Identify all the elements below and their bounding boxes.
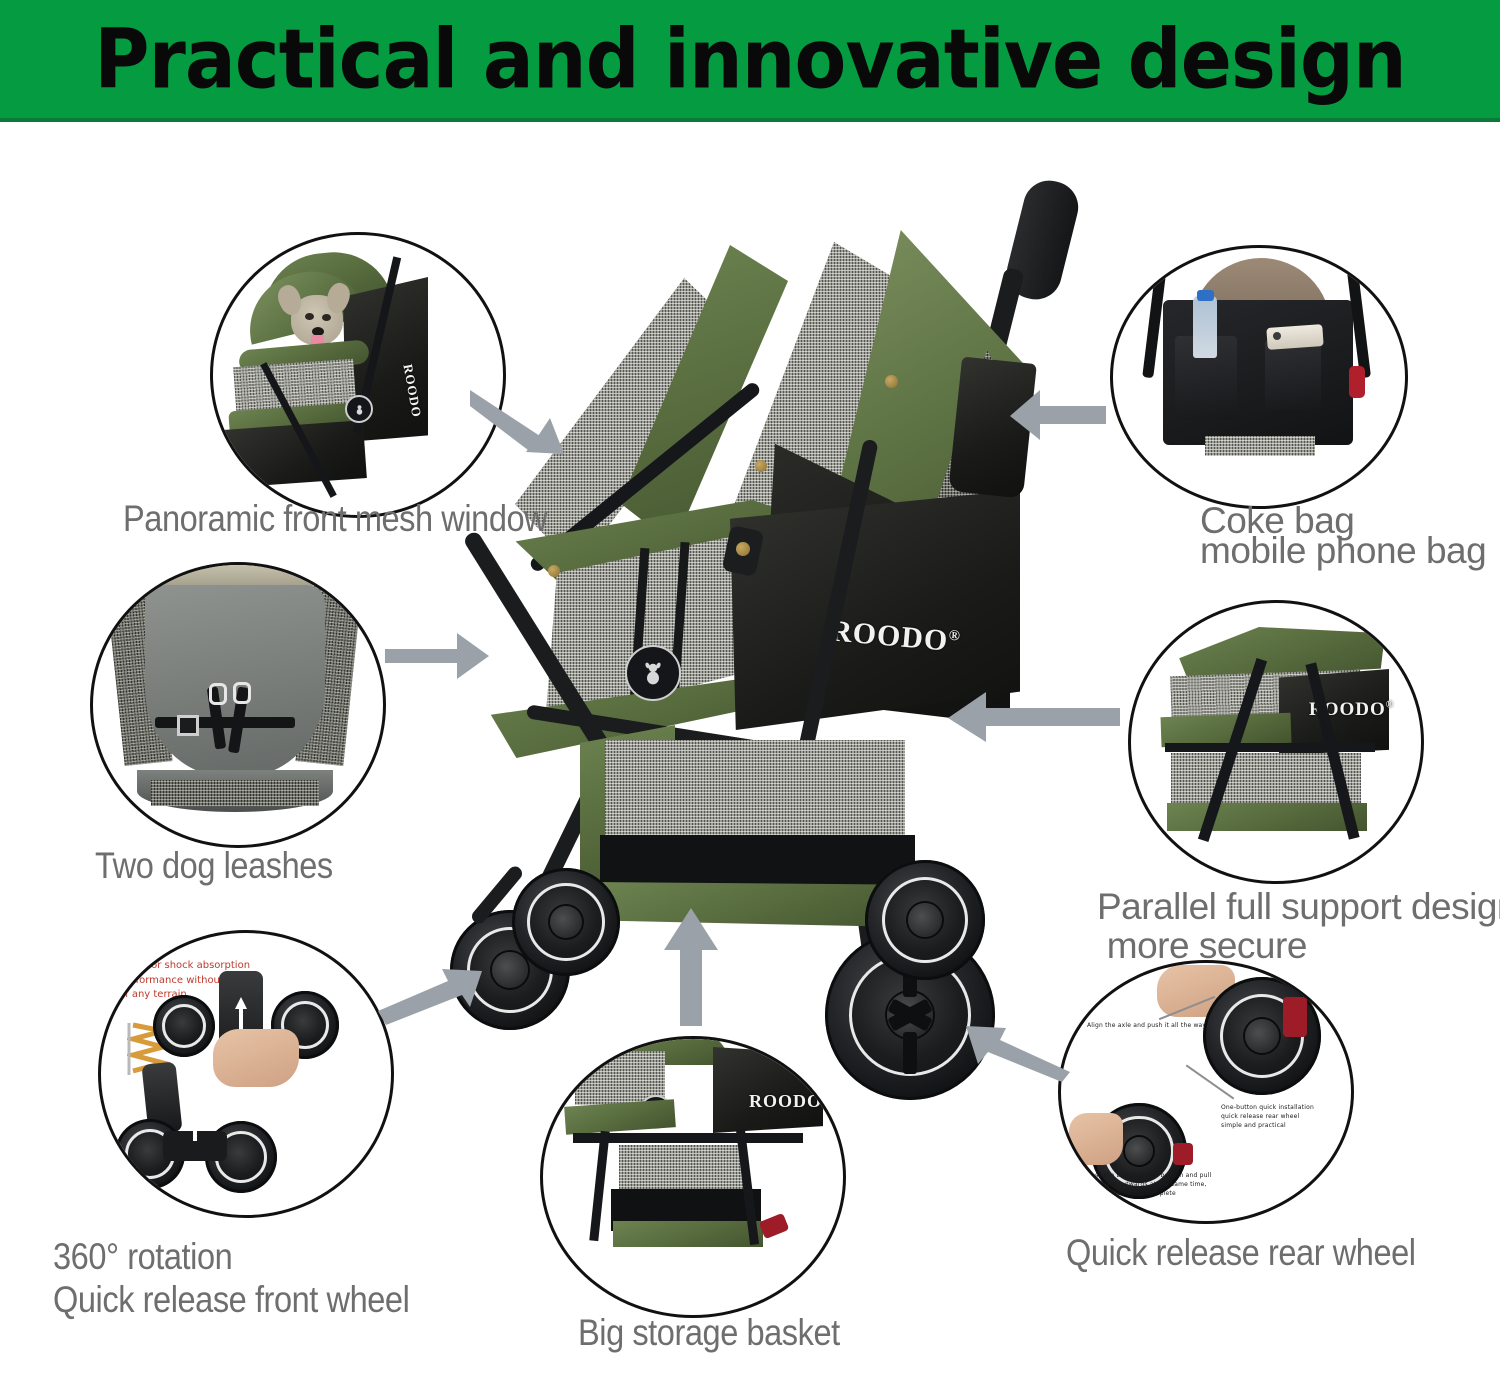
callout-quick-release-rear-wheel: Align the axle and push it all the way O… xyxy=(1058,960,1354,1224)
header-banner: Practical and innovative design xyxy=(0,0,1500,122)
basket-red-brake xyxy=(759,1213,790,1239)
mini-logo-badge xyxy=(345,395,373,423)
callout-panoramic-front-mesh-window: ROODO xyxy=(210,232,506,518)
basket-frame-left xyxy=(589,1131,609,1241)
callout-image-panoramic: ROODO xyxy=(213,235,503,515)
callout-image-coke-bag xyxy=(1113,248,1405,506)
label-parallel-full-support: Parallel full support design xyxy=(1097,886,1500,928)
leash-clip-2 xyxy=(233,682,251,704)
storage-basket-mesh xyxy=(605,740,905,850)
callout-image-parallel-support: ROODO® xyxy=(1131,603,1421,881)
rear-wheel-spoke-2 xyxy=(903,1032,917,1074)
harness-buckle xyxy=(177,715,199,736)
align-axle-text: Align the axle and push it all the way xyxy=(1087,1021,1206,1030)
storage-basket-black-band xyxy=(600,835,915,890)
harness-strap-horizontal xyxy=(155,717,295,728)
arrow-basket xyxy=(660,908,722,1026)
bag-pocket-right xyxy=(1265,340,1321,410)
logo-badge xyxy=(625,645,681,701)
basket-floor-green xyxy=(613,1221,763,1247)
label-quick-release-rear-wheel: Quick release rear wheel xyxy=(1066,1232,1416,1274)
up-arrow-2 xyxy=(189,1103,201,1141)
bottle-cap xyxy=(1197,290,1214,301)
hand-photo-top xyxy=(213,1029,299,1087)
front-wheel-hub xyxy=(492,952,528,988)
callout-two-dog-leashes xyxy=(90,562,386,848)
hinge-rivet xyxy=(736,542,750,556)
arrow-front-wheel xyxy=(378,965,486,1029)
arrow-panoramic xyxy=(468,388,578,460)
hand-photo-rear-bottom xyxy=(1069,1113,1123,1165)
interior-bottom-mesh xyxy=(151,780,319,806)
callout-image-rear-wheel: Align the axle and push it all the way O… xyxy=(1061,963,1351,1221)
canopy-rivet-1 xyxy=(885,375,898,388)
arrow-coke-bag xyxy=(1010,388,1106,444)
leash-clip-1 xyxy=(209,683,227,705)
water-bottle xyxy=(1193,296,1217,358)
front-wheel-inner-hub xyxy=(550,906,582,938)
label-panoramic-front-mesh-window: Panoramic front mesh window xyxy=(123,498,547,540)
callout-image-front-wheel: Superior shock absorption performance wi… xyxy=(101,933,391,1215)
dog-icon xyxy=(353,403,366,416)
canopy-rivet-2 xyxy=(755,460,767,472)
press-button-text: Press the button to the bottom and pull … xyxy=(1085,1171,1211,1198)
label-mobile-phone-bag: mobile phone bag xyxy=(1200,530,1486,572)
label-two-dog-leashes: Two dog leashes xyxy=(95,845,333,887)
label-quick-release-front-wheel: Quick release front wheel xyxy=(53,1279,409,1321)
main-product-image: ROODO® xyxy=(430,170,1080,1100)
callout-image-basket: ROODO® xyxy=(543,1039,843,1315)
cabin-rivet-1 xyxy=(548,565,560,577)
callout-image-leashes xyxy=(93,565,383,845)
callout-parallel-full-support: ROODO® xyxy=(1128,600,1424,884)
rear-detail-red-part-2 xyxy=(1173,1143,1193,1165)
rear-detail-red-part xyxy=(1283,997,1307,1037)
side-basket-bottom xyxy=(1167,803,1367,831)
rear-wheel-second-hub xyxy=(908,903,942,937)
one-button-text: One-button quick installation quick rele… xyxy=(1221,1103,1314,1130)
basket-cabin-black xyxy=(713,1047,823,1133)
rear-detail-hub-2 xyxy=(1125,1137,1153,1165)
page-title: Practical and innovative design xyxy=(94,13,1406,108)
callout-coke-bag xyxy=(1110,245,1408,509)
banner-underline xyxy=(0,118,1500,122)
callout-quick-release-front-wheel: Superior shock absorption performance wi… xyxy=(98,930,394,1218)
parallel-frame-horizontal xyxy=(1165,743,1375,752)
red-clip xyxy=(1349,366,1365,398)
callout-big-storage-basket: ROODO® xyxy=(540,1036,846,1318)
label-big-storage-basket: Big storage basket xyxy=(578,1312,840,1354)
basket-brand-logo: ROODO® xyxy=(749,1091,830,1112)
arrow-leashes xyxy=(385,625,493,687)
basket-mesh-bottom xyxy=(1205,436,1315,456)
dog-icon xyxy=(639,659,667,687)
arrow-rear-wheel xyxy=(962,1022,1070,1084)
basket-main-mesh xyxy=(619,1145,747,1193)
registered-mark: ® xyxy=(948,628,962,645)
arrow-parallel-support xyxy=(948,690,1120,746)
label-360-rotation: 360° rotation xyxy=(53,1236,232,1278)
detail-wheel-left xyxy=(153,995,215,1057)
phone-camera-icon xyxy=(1273,332,1281,340)
rear-detail-hub xyxy=(1245,1019,1279,1053)
